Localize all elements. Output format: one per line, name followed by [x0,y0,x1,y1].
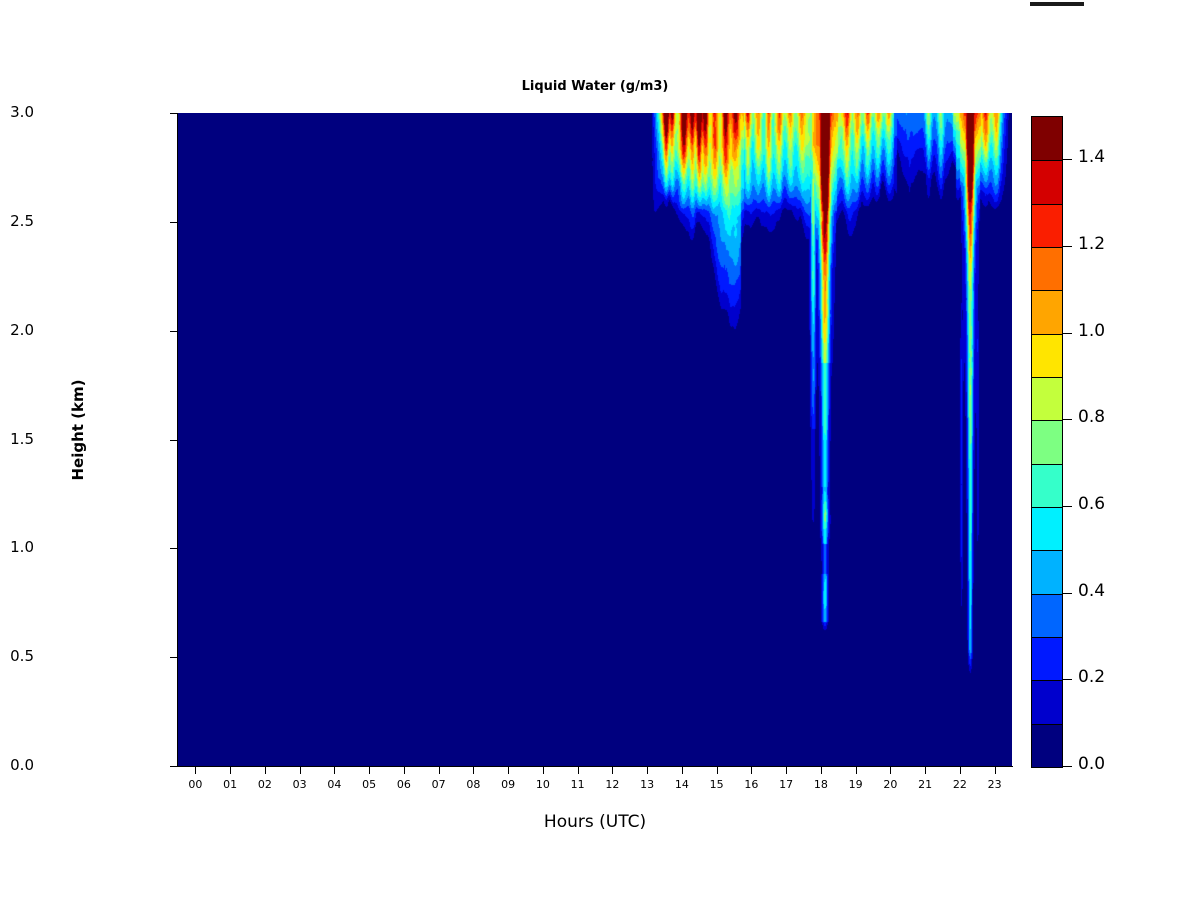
y-axis-tick [170,113,178,114]
colorbar-band [1032,637,1062,680]
x-axis-tick [578,766,579,774]
colorbar-band [1032,464,1062,507]
x-axis-tick [682,766,683,774]
y-axis-tick [170,222,178,223]
x-axis-tick-label: 14 [675,778,689,791]
colorbar-tick-label: 1.2 [1078,234,1105,254]
colorbar-band [1032,680,1062,723]
x-axis-tick [404,766,405,774]
x-axis-line [177,766,1013,767]
y-axis-tick-label: 0.0 [10,756,34,774]
x-axis-tick [821,766,822,774]
x-axis-tick [300,766,301,774]
colorbar-band [1032,420,1062,463]
colorbar-band [1032,290,1062,333]
x-axis-tick-label: 04 [327,778,341,791]
liquid-water-heatmap [178,113,1012,766]
x-axis-tick-label: 18 [814,778,828,791]
colorbar-band [1032,507,1062,550]
colorbar-tick [1063,593,1072,594]
colorbar [1031,116,1063,768]
x-axis-tick [925,766,926,774]
colorbar-tick-label: 1.0 [1078,321,1105,341]
x-axis-tick [369,766,370,774]
colorbar-tick-label: 0.2 [1078,667,1105,687]
colorbar-tick-label: 0.8 [1078,407,1105,427]
colorbar-band [1032,204,1062,247]
colorbar-tick [1063,679,1072,680]
colorbar-tick-label: 0.6 [1078,494,1105,514]
x-axis-tick-label: 20 [883,778,897,791]
colorbar-tick [1063,766,1072,767]
x-axis-tick [751,766,752,774]
x-axis-tick [334,766,335,774]
colorbar-band [1032,594,1062,637]
x-axis-tick-label: 13 [640,778,654,791]
x-axis-tick-label: 23 [988,778,1002,791]
figure-canvas: Liquid Water (g/m3) 0.00.51.01.52.02.53.… [0,0,1200,900]
x-axis-tick-label: 21 [918,778,932,791]
colorbar-band [1032,724,1062,767]
x-axis-tick [647,766,648,774]
y-axis-label: Height (km) [69,330,87,530]
x-axis-tick-label: 19 [849,778,863,791]
colorbar-band [1032,247,1062,290]
colorbar-band [1032,334,1062,377]
colorbar-tick-label: 0.4 [1078,581,1105,601]
y-axis-tick-label: 3.0 [10,103,34,121]
colorbar-tick [1063,333,1072,334]
x-axis-tick-label: 15 [710,778,724,791]
colorbar-tick [1063,506,1072,507]
page-title: Liquid Water (g/m3) [178,79,1012,94]
x-axis-tick [230,766,231,774]
x-axis-tick [439,766,440,774]
colorbar-band [1032,160,1062,203]
x-axis-tick [543,766,544,774]
x-axis-tick [890,766,891,774]
x-axis-tick [265,766,266,774]
y-axis-tick [170,766,178,767]
x-axis-tick [717,766,718,774]
corner-mark [1030,2,1084,6]
x-axis-tick-label: 22 [953,778,967,791]
x-axis-tick [995,766,996,774]
y-axis-tick-label: 1.0 [10,538,34,556]
x-axis-tick-label: 01 [223,778,237,791]
colorbar-tick [1063,246,1072,247]
colorbar-band [1032,377,1062,420]
x-axis-tick [473,766,474,774]
colorbar-band [1032,117,1062,160]
x-axis-tick-label: 11 [571,778,585,791]
x-axis-tick-label: 08 [466,778,480,791]
x-axis-tick-label: 12 [605,778,619,791]
x-axis-tick [508,766,509,774]
x-axis-tick-label: 00 [188,778,202,791]
colorbar-tick [1063,159,1072,160]
x-axis-tick-label: 03 [293,778,307,791]
x-axis-label: Hours (UTC) [178,812,1012,832]
x-axis-tick [856,766,857,774]
x-axis-tick-label: 05 [362,778,376,791]
y-axis-tick [170,657,178,658]
x-axis-tick-label: 07 [432,778,446,791]
heatmap-plot-area [178,113,1012,766]
y-axis-tick-label: 1.5 [10,430,34,448]
x-axis-tick-label: 02 [258,778,272,791]
y-axis-tick-label: 2.0 [10,321,34,339]
colorbar-tick-label: 1.4 [1078,147,1105,167]
x-axis-tick [195,766,196,774]
y-axis-tick [170,548,178,549]
x-axis-tick [612,766,613,774]
x-axis-tick-label: 17 [779,778,793,791]
colorbar-band [1032,550,1062,593]
x-axis-tick-label: 16 [744,778,758,791]
y-axis-tick [170,331,178,332]
y-axis-tick [170,440,178,441]
y-axis-tick-label: 2.5 [10,212,34,230]
x-axis-tick [960,766,961,774]
x-axis-tick-label: 09 [501,778,515,791]
colorbar-tick-label: 0.0 [1078,754,1105,774]
colorbar-tick [1063,419,1072,420]
y-axis-tick-label: 0.5 [10,647,34,665]
x-axis-tick-label: 06 [397,778,411,791]
x-axis-tick-label: 10 [536,778,550,791]
x-axis-tick [786,766,787,774]
